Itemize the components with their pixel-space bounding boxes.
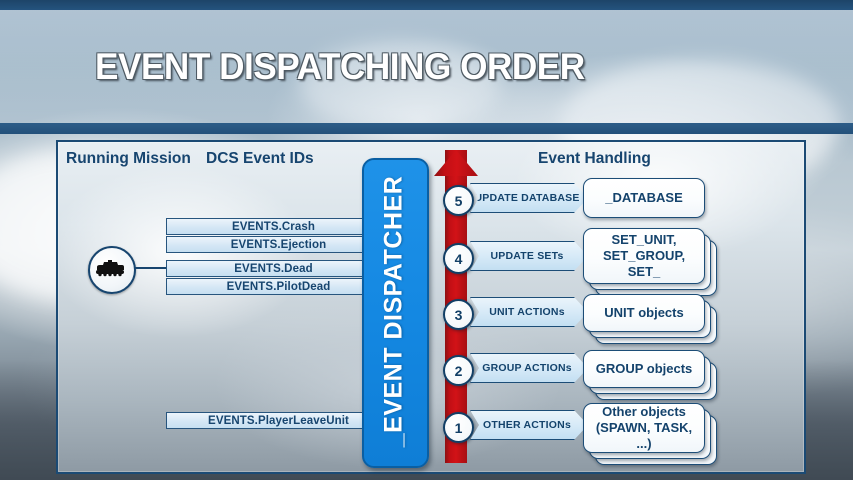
object-card-face: GROUP objects [583, 350, 705, 388]
tank-unit-icon [88, 246, 136, 294]
page-title: EVENT DISPATCHING ORDER [95, 46, 585, 88]
order-number-5: 5 [443, 185, 474, 216]
slide-stage: EVENT DISPATCHING ORDER Running Mission … [0, 0, 853, 480]
object-card-unit[interactable]: UNIT objects [583, 294, 723, 344]
action-chevron-update-sets[interactable]: UPDATE SETs [470, 241, 588, 271]
object-card-face: _DATABASE [583, 178, 705, 218]
object-card-database[interactable]: _DATABASE [583, 178, 723, 218]
action-chevron-group-actions[interactable]: GROUP ACTIONs [470, 353, 588, 383]
order-number-4: 4 [443, 243, 474, 274]
tank-glyph [95, 259, 125, 277]
object-card-label: GROUP objects [584, 351, 704, 387]
event-id-ribbon-dead[interactable]: EVENTS.Dead [166, 260, 391, 277]
object-card-sets[interactable]: SET_UNIT,SET_GROUP, SET_ [583, 228, 723, 290]
unit-to-events-connector [134, 267, 168, 269]
top-accent-bar [0, 0, 853, 10]
event-id-ribbon-crash[interactable]: EVENTS.Crash [166, 218, 391, 235]
object-card-label: UNIT objects [584, 295, 704, 331]
object-card-group[interactable]: GROUP objects [583, 350, 723, 400]
column-header-running-mission: Running Mission [66, 150, 191, 168]
title-underline-bar [0, 123, 853, 134]
event-dispatcher-box[interactable] [362, 158, 429, 468]
object-card-label: _DATABASE [584, 179, 704, 217]
object-card-face: UNIT objects [583, 294, 705, 332]
column-header-event-handling: Event Handling [538, 150, 651, 168]
object-card-face: Other objects(SPAWN, TASK, ...) [583, 403, 705, 453]
object-card-label: SET_UNIT,SET_GROUP, SET_ [584, 229, 704, 283]
object-card-other[interactable]: Other objects(SPAWN, TASK, ...) [583, 403, 723, 465]
order-number-3: 3 [443, 299, 474, 330]
object-card-face: SET_UNIT,SET_GROUP, SET_ [583, 228, 705, 284]
action-chevron-other-actions[interactable]: OTHER ACTIONs [470, 410, 588, 440]
order-number-2: 2 [443, 355, 474, 386]
action-chevron-unit-actions[interactable]: UNIT ACTIONs [470, 297, 588, 327]
object-card-label: Other objects(SPAWN, TASK, ...) [584, 404, 704, 452]
order-number-1: 1 [443, 412, 474, 443]
column-header-dcs-event-ids: DCS Event IDs [206, 150, 314, 168]
action-chevron-update-database[interactable]: UPDATE DATABASE [470, 183, 588, 213]
